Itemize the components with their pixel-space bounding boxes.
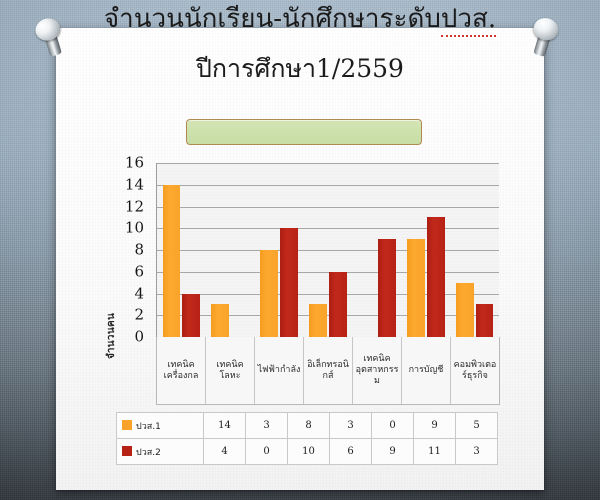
data-cell: 5	[456, 413, 498, 439]
gridline	[157, 272, 499, 273]
data-cell: 8	[288, 413, 330, 439]
data-cell: 4	[204, 439, 246, 465]
category-label: เทคนิคเครื่องกล	[157, 337, 206, 404]
series-legend-cell: ปวส.1	[117, 413, 204, 439]
y-tick-label: 16	[118, 156, 144, 171]
slide-subtitle: ปีการศึกษา1/2559	[0, 52, 600, 86]
category-axis-labels: เทคนิคเครื่องกลเทคนิคโลหะไฟฟ้ากำลังอิเล็…	[156, 337, 500, 405]
category-label: เทคนิคโลหะ	[206, 337, 255, 404]
bar-ปวส.1-การบัญชี[interactable]	[407, 239, 425, 337]
gridline	[157, 207, 499, 208]
y-tick-label: 14	[118, 177, 144, 192]
category-label: เทคนิคอุตสาหกรรม	[353, 337, 402, 404]
bar-ปวส.1-เทคนิคโลหะ[interactable]	[211, 304, 229, 337]
bar-ปวส.1-ไฟฟ้ากำลัง[interactable]	[260, 250, 278, 337]
category-label: อิเล็กทรอนิกส์	[304, 337, 353, 404]
slide-title-misspelled-word: ปวส.	[441, 4, 496, 37]
category-label: ไฟฟ้ากำลัง	[255, 337, 304, 404]
data-cell: 10	[288, 439, 330, 465]
legend-swatch-icon	[122, 446, 132, 456]
bar-ปวส.2-อิเล็กทรอนิกส์[interactable]	[329, 272, 347, 337]
y-tick-label: 4	[118, 286, 144, 301]
gridline	[157, 185, 499, 186]
bar-ปวส.1-เทคนิคเครื่องกล[interactable]	[163, 185, 181, 337]
bar-ปวส.1-อิเล็กทรอนิกส์[interactable]	[309, 304, 327, 337]
data-cell: 3	[330, 413, 372, 439]
data-cell: 14	[204, 413, 246, 439]
slide-title-prefix: จำนวนนักเรียน-นักศึกษาระดับ	[104, 4, 441, 34]
data-cell: 11	[414, 439, 456, 465]
category-label: การบัญชี	[402, 337, 451, 404]
data-cell: 9	[372, 439, 414, 465]
chart-data-table: ปวส.114383095ปวส.2401069113	[116, 412, 498, 465]
data-cell: 0	[246, 439, 288, 465]
bar-ปวส.1-คอมพิวเตอร์ธุรกิจ[interactable]	[456, 283, 474, 337]
legend-swatch-icon	[122, 420, 132, 430]
bar-ปวส.2-เทคนิคเครื่องกล[interactable]	[182, 294, 200, 338]
series-name: ปวส.1	[136, 422, 161, 432]
gridline	[157, 163, 499, 164]
green-text-placeholder[interactable]	[186, 119, 422, 145]
bar-ปวส.2-คอมพิวเตอร์ธุรกิจ[interactable]	[476, 304, 494, 337]
gridline	[157, 315, 499, 316]
gridline	[157, 294, 499, 295]
y-tick-label: 8	[118, 243, 144, 258]
slide-canvas: จำนวนนักเรียน-นักศึกษาระดับปวส. ปีการศึก…	[0, 0, 600, 500]
data-cell: 0	[372, 413, 414, 439]
y-tick-label: 12	[118, 199, 144, 214]
y-tick-label: 6	[118, 264, 144, 279]
data-cell: 3	[246, 413, 288, 439]
bar-ปวส.2-ไฟฟ้ากำลัง[interactable]	[280, 228, 298, 337]
plot-area	[156, 163, 499, 337]
data-cell: 3	[456, 439, 498, 465]
table-row: ปวส.2401069113	[117, 439, 498, 465]
data-cell: 9	[414, 413, 456, 439]
series-name: ปวส.2	[136, 448, 161, 458]
gridline	[157, 228, 499, 229]
category-label: คอมพิวเตอร์ธุรกิจ	[451, 337, 499, 404]
y-axis-tick-labels: 1614121086420	[118, 163, 144, 338]
y-tick-label: 0	[118, 330, 144, 345]
y-tick-label: 2	[118, 308, 144, 323]
gridline	[157, 250, 499, 251]
bar-ปวส.2-การบัญชี[interactable]	[427, 217, 445, 337]
series-legend-cell: ปวส.2	[117, 439, 204, 465]
slide-title: จำนวนนักเรียน-นักศึกษาระดับปวส.	[0, 2, 600, 36]
bar-chart[interactable]: จำนวนคน 1614121086420 เทคนิคเครื่องกลเทค…	[108, 163, 504, 468]
bar-ปวส.2-เทคนิคอุตสาหกรรม[interactable]	[378, 239, 396, 337]
table-row: ปวส.114383095	[117, 413, 498, 439]
data-cell: 6	[330, 439, 372, 465]
y-axis-label: จำนวนคน	[104, 313, 119, 359]
y-tick-label: 10	[118, 221, 144, 236]
